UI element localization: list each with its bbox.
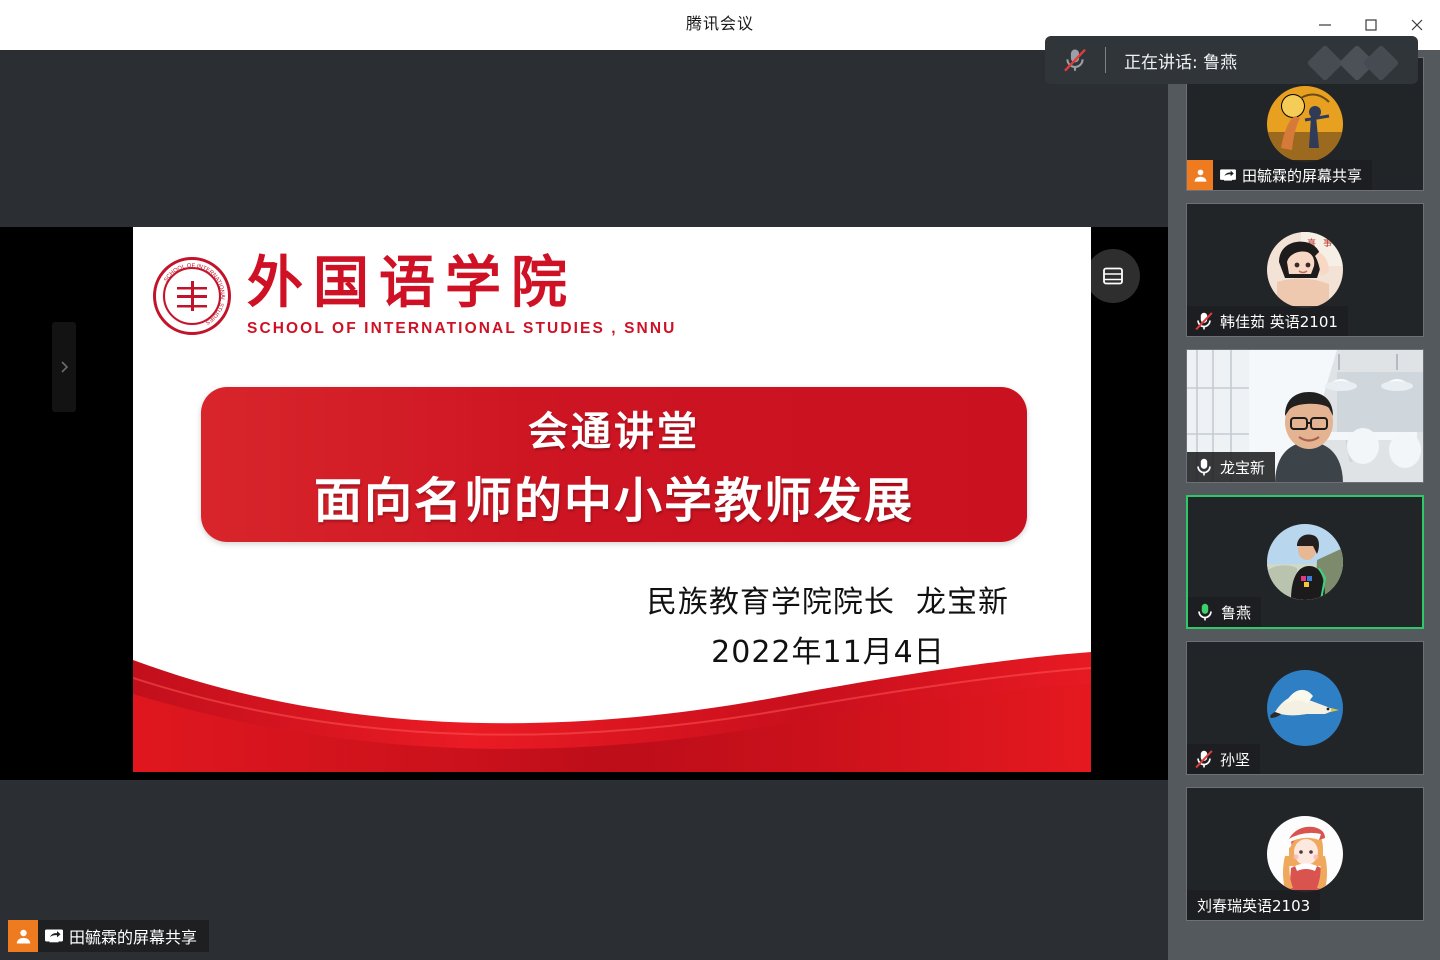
screen-share-owner-label: 田毓霖的屏幕共享 [8,920,209,952]
speaking-now-banner: 正在讲话: 鲁燕 [1045,36,1418,84]
tile-label: 龙宝新 [1187,452,1275,482]
layout-panel-icon [1100,263,1126,289]
screen-share-owner-text: 田毓霖的屏幕共享 [69,924,197,948]
svg-text:SCHOOL OF INTERNATIONAL STUDIE: SCHOOL OF INTERNATIONAL STUDIES [163,263,224,325]
screen-share-owner-body: 田毓霖的屏幕共享 [38,920,209,952]
slide-presenter: 民族教育学院院长 龙宝新 [647,577,1009,621]
layout-switch-button[interactable] [1086,249,1140,303]
anime-girl-avatar: 喜 事 [1267,232,1343,308]
person-icon [1187,160,1213,190]
tile-label-text: 孙坚 [1220,749,1250,770]
school-name-cn: 外国语学院 [247,255,676,314]
tencent-meeting-logo-icon [1306,42,1402,80]
christmas-girl-avatar [1267,816,1343,892]
divider [1105,47,1106,73]
tile-label: 刘春瑞英语2103 [1187,890,1320,920]
tile-label-text: 韩佳茹 英语2101 [1220,311,1338,332]
participant-tile-list: 田毓霖的屏幕共享 喜 事 [1186,57,1424,933]
shared-screen-surface[interactable]: SCHOOL OF INTERNATIONAL STUDIES 外国语学院 SC… [0,227,1168,780]
mic-speaking-icon [1194,601,1216,623]
participants-sidebar: 田毓霖的屏幕共享 喜 事 [1168,50,1440,960]
tile-label: 韩佳茹 英语2101 [1187,306,1348,336]
tencent-meeting-window: 腾讯会议 SCHOOL OF INTERNATIONA [0,0,1440,960]
shared-screen-stage: SCHOOL OF INTERNATIONAL STUDIES 外国语学院 SC… [0,50,1168,960]
slide-red-ribbon-decoration [133,642,1091,772]
panel-collapse-handle[interactable] [52,322,76,412]
mountain-portrait-avatar [1267,524,1343,600]
person-icon [8,920,38,952]
mic-muted-icon [1193,748,1215,770]
presentation-slide: SCHOOL OF INTERNATIONAL STUDIES 外国语学院 SC… [133,227,1091,772]
tile-han-jiaru[interactable]: 喜 事 [1186,203,1424,337]
tile-label-text: 龙宝新 [1220,457,1265,478]
slide-title-line2: 面向名师的中小学教师发展 [314,461,914,531]
slide-title-banner: 会通讲堂 面向名师的中小学教师发展 [201,387,1027,542]
tile-sun-jian[interactable]: 孙坚 [1186,641,1424,775]
tile-long-baoxin[interactable]: 龙宝新 [1186,349,1424,483]
tile-label-text: 鲁燕 [1221,602,1251,623]
tile-label-text: 田毓霖的屏幕共享 [1242,165,1362,186]
mic-muted-icon [1193,310,1215,332]
tile-label: 田毓霖的屏幕共享 [1213,160,1372,190]
slide-title-line1: 会通讲堂 [528,399,700,457]
seal-ring-text: SCHOOL OF INTERNATIONAL STUDIES [156,260,228,332]
tile-lu-yan[interactable]: 鲁燕 [1186,495,1424,629]
tile-label-text: 刘春瑞英语2103 [1197,895,1310,916]
screen-share-icon [1219,168,1237,183]
mic-on-icon [1193,456,1215,478]
tile-label: 鲁燕 [1188,597,1261,627]
flying-bird-avatar [1267,670,1343,746]
screen-share-icon [44,928,64,945]
tile-label: 孙坚 [1187,744,1260,774]
snnu-seal-logo-icon: SCHOOL OF INTERNATIONAL STUDIES [153,257,231,335]
school-name-block: 外国语学院 SCHOOL OF INTERNATIONAL STUDIES , … [247,255,676,338]
tile-liu-chunrui[interactable]: 刘春瑞英语2103 [1186,787,1424,921]
chevron-right-icon [59,360,69,374]
speaking-now-text: 正在讲话: 鲁燕 [1124,48,1237,73]
school-name-en: SCHOOL OF INTERNATIONAL STUDIES , SNNU [247,320,676,338]
slide-logo-header: SCHOOL OF INTERNATIONAL STUDIES 外国语学院 SC… [153,255,676,338]
mic-muted-icon [1045,46,1105,74]
autumn-artwork-avatar [1267,86,1343,162]
svg-text:事: 事 [1323,237,1332,248]
